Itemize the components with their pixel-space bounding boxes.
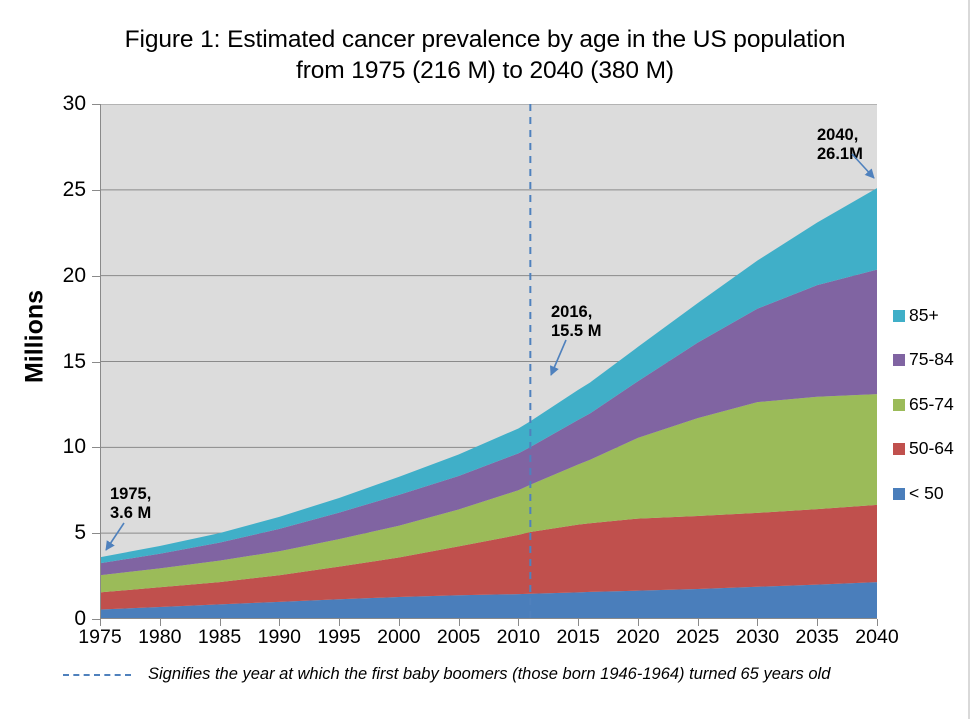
x-tick-mark-1995 [339,619,340,626]
x-tick-mark-1990 [279,619,280,626]
figure-container: Figure 1: Estimated cancer prevalence by… [0,0,970,719]
x-tick-mark-1985 [220,619,221,626]
y-tick-mark-20 [92,276,100,277]
legend-label: 85+ [909,307,939,325]
callout-2016-line-1: 2016, [551,303,601,322]
callout-2016-line-2: 15.5 M [551,322,601,341]
x-tick-label-2040: 2040 [847,628,907,648]
y-tick-mark-15 [92,362,100,363]
x-tick-mark-2020 [638,619,639,626]
x-tick-label-2020: 2020 [608,628,668,648]
callout-2016: 2016, 15.5 M [551,303,601,342]
x-tick-mark-2015 [578,619,579,626]
legend: 85+75-8465-7450-64< 50 [893,306,970,529]
y-tick-label-15: 15 [34,351,86,372]
y-tick-mark-5 [92,533,100,534]
footnote-dashed-line-icon [63,674,131,676]
x-tick-label-2025: 2025 [668,628,728,648]
x-tick-mark-2025 [698,619,699,626]
legend-item-85-[interactable]: 85+ [893,306,970,325]
legend-swatch-icon [893,443,905,455]
callout-1975-line-2: 3.6 M [110,504,151,523]
y-tick-label-5: 5 [34,522,86,543]
legend-label: 65-74 [909,396,954,414]
x-tick-label-2000: 2000 [369,628,429,648]
x-tick-label-1985: 1985 [190,628,250,648]
legend-label: 75-84 [909,351,954,369]
figure-title-line-2: from 1975 (216 M) to 2040 (380 M) [70,55,900,86]
legend-label: 50-64 [909,440,954,458]
x-tick-mark-2030 [757,619,758,626]
footnote-text: Signifies the year at which the first ba… [148,665,830,684]
x-tick-label-1975: 1975 [70,628,130,648]
legend-swatch-icon [893,310,905,322]
figure-title-line-1: Figure 1: Estimated cancer prevalence by… [70,24,900,55]
x-tick-mark-2035 [817,619,818,626]
y-tick-label-20: 20 [34,265,86,286]
legend-item--50[interactable]: < 50 [893,484,970,503]
callout-2040: 2040, 26.1M [817,126,863,165]
y-tick-mark-0 [92,619,100,620]
x-tick-label-1980: 1980 [130,628,190,648]
legend-item-50-64[interactable]: 50-64 [893,440,970,459]
legend-item-75-84[interactable]: 75-84 [893,351,970,370]
x-tick-mark-1975 [100,619,101,626]
y-tick-label-10: 10 [34,436,86,457]
x-tick-label-1995: 1995 [309,628,369,648]
plot-area [100,104,877,619]
y-tick-label-25: 25 [34,179,86,200]
legend-item-65-74[interactable]: 65-74 [893,395,970,414]
x-tick-label-2005: 2005 [429,628,489,648]
callout-2040-line-2: 26.1M [817,145,863,164]
callout-1975: 1975, 3.6 M [110,485,151,524]
stacked-area-chart [100,104,877,619]
footnote: Signifies the year at which the first ba… [63,665,830,684]
callout-1975-line-1: 1975, [110,485,151,504]
y-tick-mark-30 [92,104,100,105]
y-tick-mark-25 [92,190,100,191]
legend-swatch-icon [893,399,905,411]
x-tick-mark-2005 [459,619,460,626]
x-tick-label-1990: 1990 [249,628,309,648]
y-tick-label-30: 30 [34,93,86,114]
x-tick-label-2015: 2015 [548,628,608,648]
legend-label: < 50 [909,485,944,503]
legend-swatch-icon [893,488,905,500]
x-tick-mark-1980 [160,619,161,626]
x-tick-label-2030: 2030 [727,628,787,648]
legend-swatch-icon [893,354,905,366]
x-tick-mark-2000 [399,619,400,626]
x-tick-label-2010: 2010 [488,628,548,648]
x-tick-mark-2010 [518,619,519,626]
x-tick-label-2035: 2035 [787,628,847,648]
figure-title: Figure 1: Estimated cancer prevalence by… [70,24,900,87]
x-tick-mark-2040 [877,619,878,626]
callout-2040-line-1: 2040, [817,126,863,145]
y-tick-mark-10 [92,447,100,448]
